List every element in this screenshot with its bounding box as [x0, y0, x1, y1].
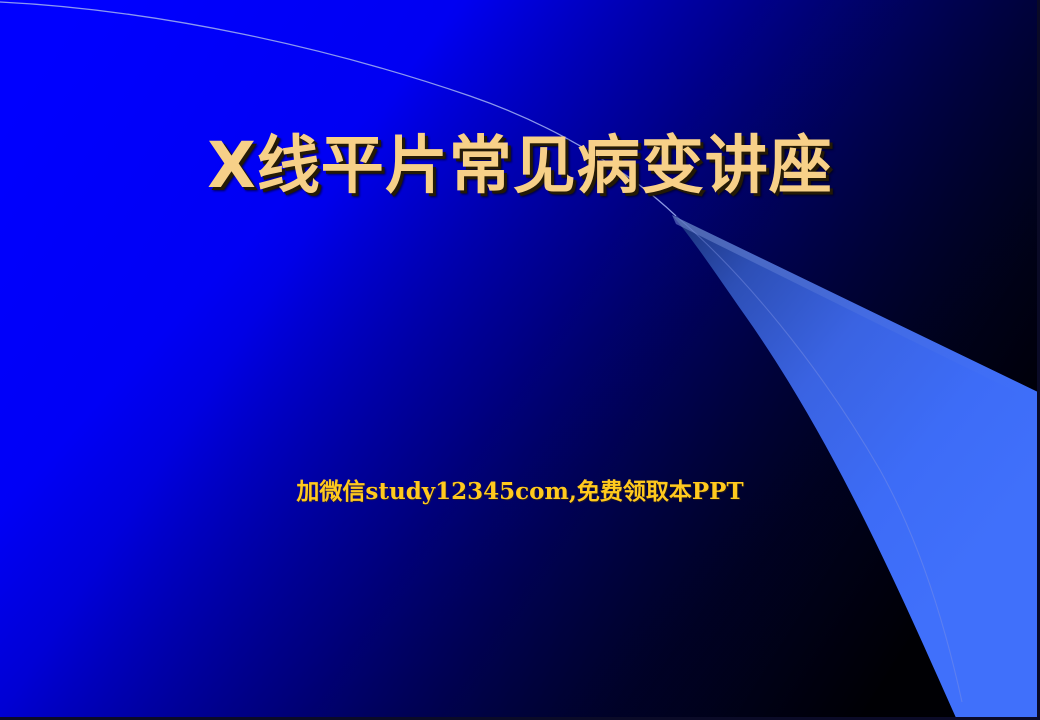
title-slide: X线平片常见病变讲座 加微信study12345com,免费领取本PPT: [0, 0, 1040, 720]
title-area: X线平片常见病变讲座: [0, 132, 1040, 200]
subtitle-area: 加微信study12345com,免费领取本PPT: [0, 478, 1040, 506]
slide-background: [0, 0, 1040, 720]
subtitle-text: 加微信study12345com,免费领取本PPT: [0, 478, 1040, 506]
page-title: X线平片常见病变讲座: [0, 132, 1040, 200]
